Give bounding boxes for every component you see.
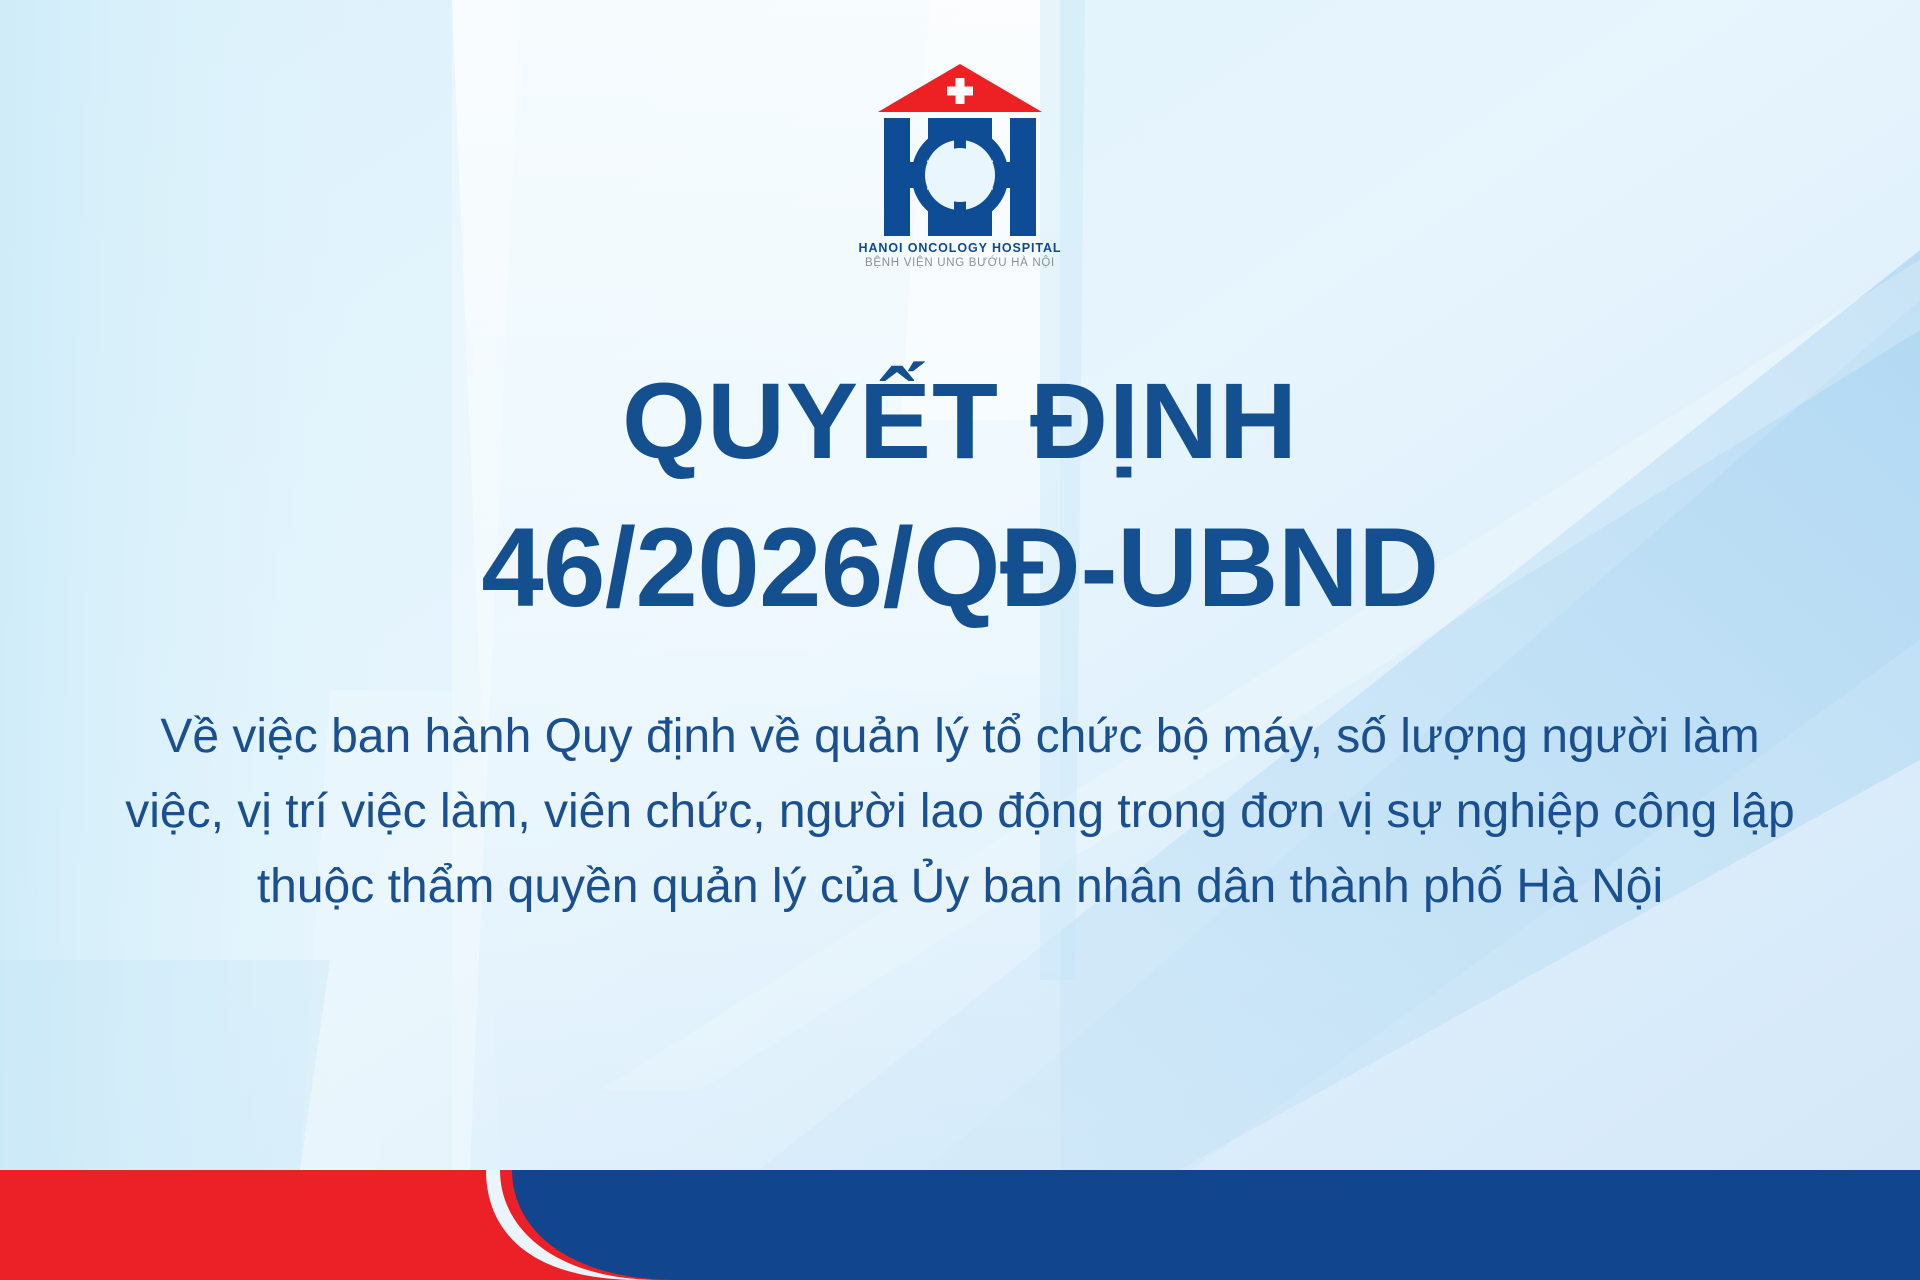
hospital-logo: HANOI ONCOLOGY HOSPITAL BỆNH VIỆN UNG BƯ… [840,58,1080,269]
body-line-1: Về việc ban hành Quy định về quản lý tổ … [80,700,1840,775]
headline-title: QUYẾT ĐỊNH [0,352,1920,490]
logo-inner-circle-2 [933,148,987,202]
blue-band [512,1170,1920,1280]
bottom-color-band [0,1170,1920,1280]
decision-announcement-poster: HANOI ONCOLOGY HOSPITAL BỆNH VIỆN UNG BƯ… [0,0,1920,1280]
body-line-2: việc, vị trí việc làm, viên chức, người … [80,775,1840,850]
hospital-logo-icon [876,58,1044,238]
headline-block: QUYẾT ĐỊNH 46/2026/QĐ-UBND [0,352,1920,640]
red-band-body [0,1170,470,1280]
body-text-block: Về việc ban hành Quy định về quản lý tổ … [80,700,1840,925]
logo-name-en: HANOI ONCOLOGY HOSPITAL [859,241,1062,255]
logo-name-vi: BỆNH VIỆN UNG BƯỚU HÀ NỘI [865,257,1055,269]
body-line-3: thuộc thẩm quyền quản lý của Ủy ban nhân… [80,850,1840,925]
bottom-band-svg [0,1170,1920,1280]
headline-document-number: 46/2026/QĐ-UBND [0,496,1920,639]
